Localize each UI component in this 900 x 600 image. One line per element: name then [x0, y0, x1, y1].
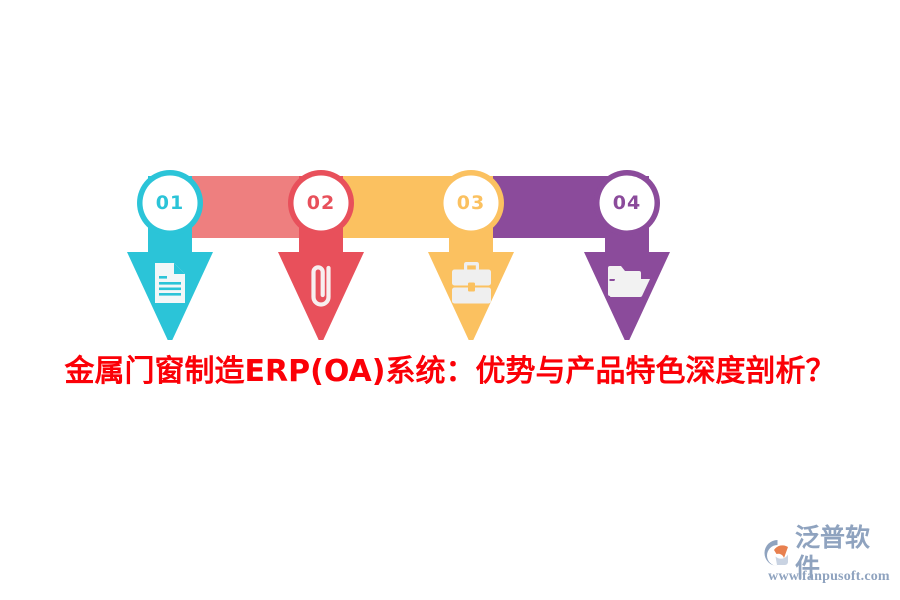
step-arrow-04[interactable]: 04 — [584, 170, 670, 340]
step-number-04: 04 — [613, 192, 641, 214]
page-title: 金属门窗制造ERP(OA)系统：优势与产品特色深度剖析？ — [0, 352, 900, 392]
step-arrow-01[interactable]: 01 — [127, 170, 213, 340]
step-arrow-02[interactable]: 02 — [278, 170, 364, 340]
page-title-text: 金属门窗制造ERP(OA)系统：优势与产品特色深度剖析？ — [65, 352, 836, 392]
brand-logo-row: 泛普软件 — [762, 536, 894, 570]
screenshot-root: 01 02 — [0, 0, 900, 600]
step-number-03: 03 — [457, 192, 485, 214]
step-arrow-03[interactable]: 03 — [428, 170, 514, 340]
brand-logo-url: www.fanpusoft.com — [763, 569, 895, 585]
fanpu-logo-icon — [762, 538, 792, 568]
step-number-01: 01 — [156, 192, 184, 214]
brand-logo[interactable]: 泛普软件 www.fanpusoft.com — [762, 536, 894, 592]
four-step-arrow-infographic: 01 02 — [0, 0, 900, 340]
step-number-02: 02 — [307, 192, 335, 214]
